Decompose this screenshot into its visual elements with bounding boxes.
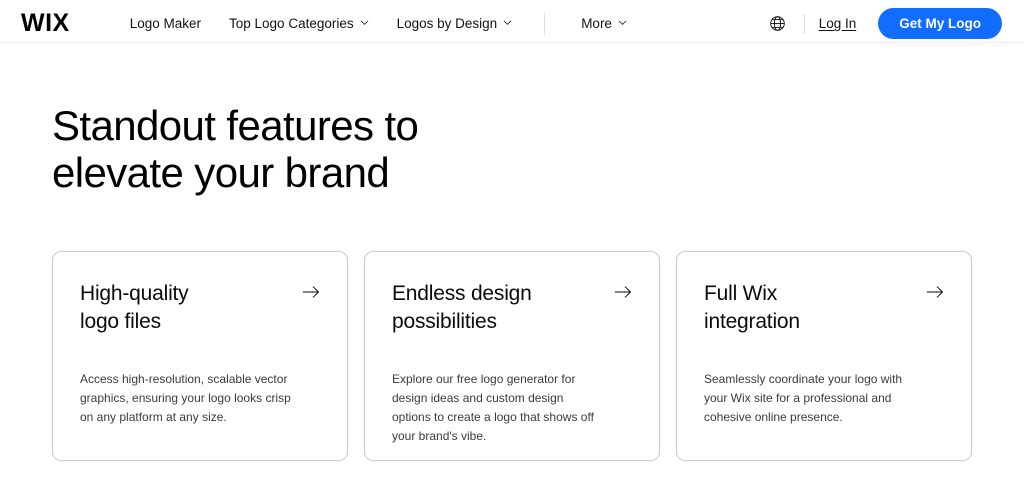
header-divider xyxy=(804,14,805,34)
feature-cards: High-quality logo files Access high-reso… xyxy=(52,251,972,461)
card-description: Explore our free logo generator for desi… xyxy=(392,370,604,446)
nav-item-label: Logos by Design xyxy=(397,16,498,31)
header-actions: Log In Get My Logo xyxy=(765,8,1002,39)
main-content: Standout features to elevate your brand … xyxy=(0,47,1024,461)
nav-item-more[interactable]: More xyxy=(567,10,641,37)
card-title-line-2: integration xyxy=(704,308,904,336)
site-header: WIX Logo Maker Top Logo Categories Logos… xyxy=(0,0,1024,47)
card-title: Endless design possibilities xyxy=(392,280,592,336)
card-title-line-1: Endless design xyxy=(392,280,592,308)
page-title-line-1: Standout features to xyxy=(52,102,972,149)
get-my-logo-button[interactable]: Get My Logo xyxy=(878,8,1002,39)
nav-item-logos-by-design[interactable]: Logos by Design xyxy=(383,10,527,37)
card-title-line-1: Full Wix xyxy=(704,280,904,308)
nav-item-top-logo-categories[interactable]: Top Logo Categories xyxy=(215,10,383,37)
card-title-line-1: High-quality xyxy=(80,280,280,308)
chevron-down-icon xyxy=(618,18,627,27)
nav-item-label: More xyxy=(581,16,612,31)
nav-item-label: Logo Maker xyxy=(130,16,201,31)
feature-card-full-wix-integration[interactable]: Full Wix integration Seamlessly coordina… xyxy=(676,251,972,461)
chevron-down-icon xyxy=(360,18,369,27)
card-title-line-2: logo files xyxy=(80,308,280,336)
page-title-line-2: elevate your brand xyxy=(52,149,972,196)
nav-item-logo-maker[interactable]: Logo Maker xyxy=(130,10,215,37)
arrow-right-icon[interactable] xyxy=(301,282,321,302)
primary-nav: Logo Maker Top Logo Categories Logos by … xyxy=(130,10,641,37)
feature-card-endless-design-possibilities[interactable]: Endless design possibilities Explore our… xyxy=(364,251,660,461)
card-title: High-quality logo files xyxy=(80,280,280,336)
globe-icon[interactable] xyxy=(765,11,791,37)
page-title: Standout features to elevate your brand xyxy=(52,47,972,196)
arrow-right-icon[interactable] xyxy=(613,282,633,302)
card-title-line-2: possibilities xyxy=(392,308,592,336)
arrow-right-icon[interactable] xyxy=(925,282,945,302)
feature-card-high-quality-logo-files[interactable]: High-quality logo files Access high-reso… xyxy=(52,251,348,461)
chevron-down-icon xyxy=(503,18,512,27)
card-title: Full Wix integration xyxy=(704,280,904,336)
login-link[interactable]: Log In xyxy=(819,16,857,31)
nav-divider xyxy=(544,13,545,35)
wix-logo[interactable]: WIX xyxy=(21,11,70,36)
card-description: Seamlessly coordinate your logo with you… xyxy=(704,370,916,427)
nav-item-label: Top Logo Categories xyxy=(229,16,354,31)
card-description: Access high-resolution, scalable vector … xyxy=(80,370,292,427)
